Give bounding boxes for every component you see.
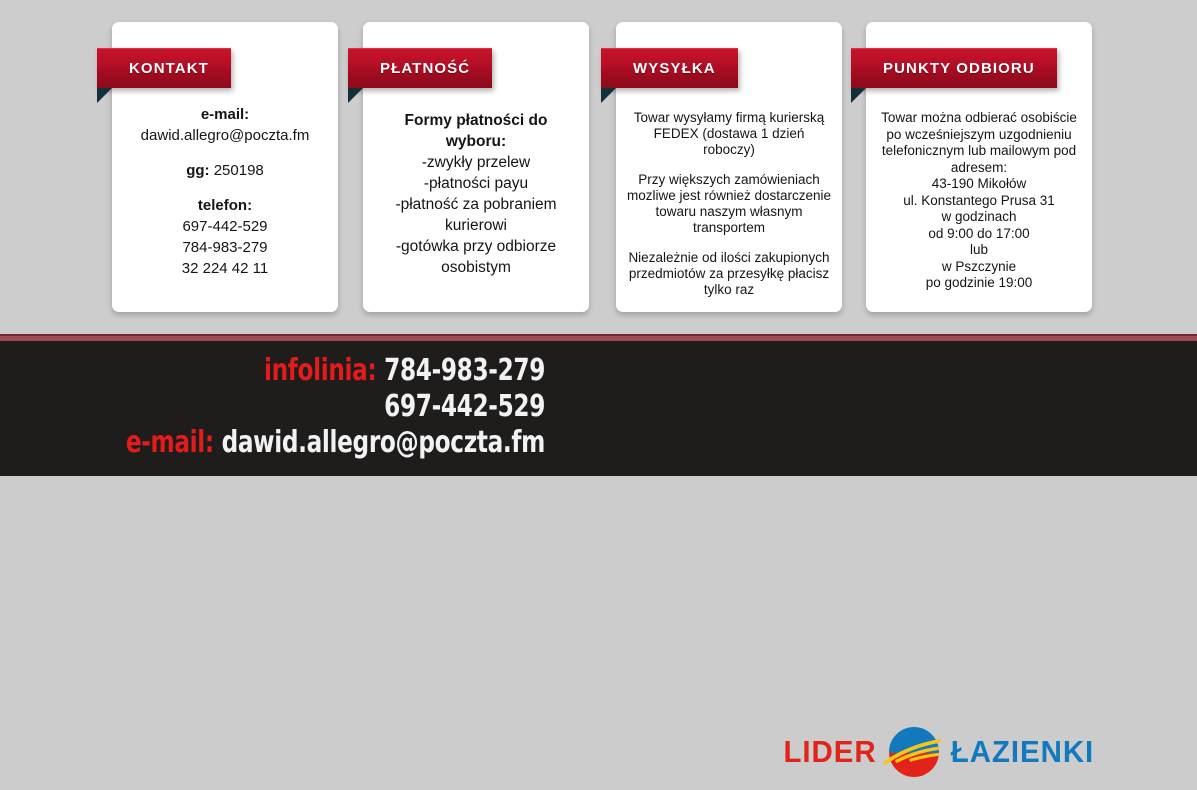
logo-word-lider: LIDER: [783, 734, 876, 770]
punkty-hours-label: w godzinach: [876, 209, 1082, 226]
card-kontakt-body: e-mail: dawid.allegro@poczta.fm gg: 2501…: [112, 104, 338, 279]
platnosc-option-4a: -gotówka przy odbiorze: [373, 236, 579, 257]
ribbon-fold-shape: [851, 88, 866, 103]
wysylka-p2-l1: Przy większych zamówieniach: [626, 172, 832, 188]
platnosc-option-3a: -płatność za pobraniem: [373, 194, 579, 215]
wysylka-spacer-1: [626, 158, 832, 172]
punkty-l1: Towar można odbierać osobiście: [876, 110, 1082, 127]
punkty-postal-city: 43-190 Mikołów: [876, 176, 1082, 193]
platnosc-heading-1: Formy płatności do: [373, 110, 579, 131]
wysylka-p1-l3: roboczy): [626, 142, 832, 158]
platnosc-option-2: -płatności payu: [373, 173, 579, 194]
kontakt-gg-label: gg:: [186, 162, 209, 179]
card-punkty-odbioru: PUNKTY ODBIORU Towar można odbierać osob…: [866, 22, 1092, 312]
card-platnosc-title: PŁATNOŚĆ: [380, 60, 470, 77]
card-kontakt: KONTAKT e-mail: dawid.allegro@poczta.fm …: [112, 22, 338, 312]
footer-infolinia-value: 784-983-279: [384, 353, 545, 388]
ribbon-fold-shape: [348, 88, 363, 103]
ribbon-banner: PUNKTY ODBIORU: [851, 48, 1057, 88]
punkty-l4: adresem:: [876, 160, 1082, 177]
kontakt-spacer-1: [122, 146, 328, 160]
platnosc-option-3b: kurierowi: [373, 215, 579, 236]
kontakt-gg-value: 250198: [210, 162, 264, 179]
wysylka-p2-l2: mozliwe jest również dostarczenie: [626, 188, 832, 204]
card-kontakt-title: KONTAKT: [129, 60, 209, 77]
card-wysylka-ribbon: WYSYŁKA: [601, 48, 738, 88]
footer-infolinia-label: infolinia:: [264, 353, 376, 388]
kontakt-telefon-label: telefon:: [122, 195, 328, 216]
wysylka-spacer-2: [626, 236, 832, 250]
kontakt-phone-2: 784-983-279: [122, 237, 328, 258]
card-platnosc: PŁATNOŚĆ Formy płatności do wyboru: -zwy…: [363, 22, 589, 312]
footer-bar: infolinia: 784-983-279 697-442-529 e-mai…: [0, 341, 1197, 476]
card-platnosc-ribbon: PŁATNOŚĆ: [348, 48, 492, 88]
ribbon-fold-shape: [97, 88, 112, 103]
punkty-street: ul. Konstantego Prusa 31: [876, 193, 1082, 210]
ribbon-banner: WYSYŁKA: [601, 48, 738, 88]
wysylka-p1-l1: Towar wysyłamy firmą kurierską: [626, 110, 832, 126]
card-punkty-ribbon: PUNKTY ODBIORU: [851, 48, 1057, 88]
footer-row-phone-2: 697-442-529: [76, 389, 545, 425]
logo-word-lazienki: ŁAZIENKI: [951, 734, 1094, 770]
wysylka-p1-l2: FEDEX (dostawa 1 dzień: [626, 126, 832, 142]
card-wysylka-title: WYSYŁKA: [633, 60, 716, 77]
punkty-l2: po wcześniejszym uzgodnieniu: [876, 127, 1082, 144]
platnosc-option-4b: osobistym: [373, 257, 579, 278]
card-wysylka: WYSYŁKA Towar wysyłamy firmą kurierską F…: [616, 22, 842, 312]
card-kontakt-ribbon: KONTAKT: [97, 48, 231, 88]
punkty-or: lub: [876, 242, 1082, 259]
circle-swoosh-icon: [881, 719, 947, 785]
punkty-l3: telefonicznym lub mailowym pod: [876, 143, 1082, 160]
card-wysylka-body: Towar wysyłamy firmą kurierską FEDEX (do…: [616, 110, 842, 298]
card-platnosc-body: Formy płatności do wyboru: -zwykły przel…: [363, 110, 589, 278]
kontakt-phone-1: 697-442-529: [122, 216, 328, 237]
kontakt-email-label: e-mail:: [122, 104, 328, 125]
kontakt-spacer-2: [122, 181, 328, 195]
wysylka-p3-l3: tylko raz: [626, 282, 832, 298]
ribbon-banner: PŁATNOŚĆ: [348, 48, 492, 88]
footer-phone-2-value: 697-442-529: [384, 389, 545, 424]
ribbon-fold-shape: [601, 88, 616, 103]
punkty-hours-value: od 9:00 do 17:00: [876, 226, 1082, 243]
footer-row-infolinia: infolinia: 784-983-279: [76, 353, 545, 389]
wysylka-p3-l1: Niezależnie od ilości zakupionych: [626, 250, 832, 266]
card-punkty-body: Towar można odbierać osobiście po wcześn…: [866, 110, 1092, 292]
kontakt-gg-row: gg: 250198: [122, 160, 328, 181]
punkty-hours-2: po godzinie 19:00: [876, 275, 1082, 292]
footer-contact-block: infolinia: 784-983-279 697-442-529 e-mai…: [0, 353, 545, 461]
wysylka-p2-l4: transportem: [626, 220, 832, 236]
platnosc-heading-2: wyboru:: [373, 131, 579, 152]
footer-email-value: dawid.allegro@poczta.fm: [222, 425, 545, 460]
info-cards-region: KONTAKT e-mail: dawid.allegro@poczta.fm …: [0, 0, 1197, 334]
footer-row-email: e-mail: dawid.allegro@poczta.fm: [76, 425, 545, 461]
ribbon-banner: KONTAKT: [97, 48, 231, 88]
punkty-city-2: w Pszczynie: [876, 259, 1082, 276]
kontakt-phone-3: 32 224 42 11: [122, 258, 328, 279]
kontakt-email-value: dawid.allegro@poczta.fm: [122, 125, 328, 146]
brand-logo[interactable]: LIDER ŁAZIENKI: [781, 726, 1098, 778]
card-punkty-title: PUNKTY ODBIORU: [883, 60, 1035, 77]
platnosc-option-1: -zwykły przelew: [373, 152, 579, 173]
wysylka-p2-l3: towaru naszym własnym: [626, 204, 832, 220]
wysylka-p3-l2: przedmiotów za przesyłkę płacisz: [626, 266, 832, 282]
footer-email-label: e-mail:: [126, 425, 214, 460]
